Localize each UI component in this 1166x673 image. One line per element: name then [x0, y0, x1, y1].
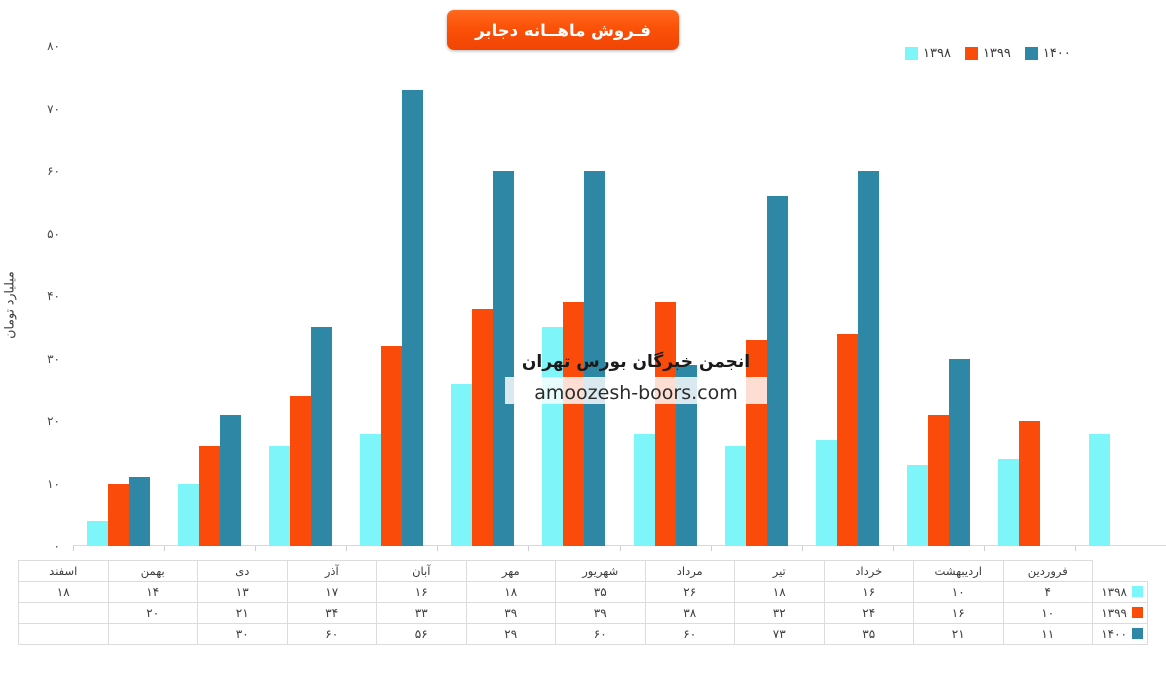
table-cell: ۱۳: [198, 582, 288, 603]
table-series-label: ۱۳۹۹: [1093, 603, 1148, 624]
table-month-header: آذر: [287, 561, 377, 582]
bar-group: [620, 46, 711, 546]
table-month-header: اردیبهشت: [914, 561, 1004, 582]
table-row: ۱۳۹۸۴۱۰۱۶۱۸۲۶۳۵۱۸۱۶۱۷۱۳۱۴۱۸: [19, 582, 1148, 603]
x-axis-tick: [984, 546, 985, 551]
table-month-header: مهر: [466, 561, 556, 582]
bar[interactable]: [402, 90, 423, 546]
bar[interactable]: [563, 302, 584, 546]
y-axis-tick-20: ۲۰: [47, 414, 60, 428]
bar[interactable]: [767, 196, 788, 546]
table-header-row: فروردیناردیبهشتخردادتیرمردادشهریورمهرآبا…: [19, 561, 1148, 582]
bar[interactable]: [949, 359, 970, 547]
bar[interactable]: [928, 415, 949, 546]
table-corner: [1093, 561, 1148, 582]
table-series-swatch-icon: [1132, 607, 1143, 618]
table-cell: ۱۶: [914, 603, 1004, 624]
bar-group: [255, 46, 346, 546]
table-month-header: دی: [198, 561, 288, 582]
bar-group: [893, 46, 984, 546]
table-cell: ۱۸: [466, 582, 556, 603]
table-cell: ۱۰: [914, 582, 1004, 603]
table-cell: ۶۰: [556, 624, 646, 645]
x-axis-tick: [346, 546, 347, 551]
table-series-name: ۱۳۹۸: [1101, 585, 1127, 599]
table-cell: ۲۴: [824, 603, 914, 624]
table-month-header: شهریور: [556, 561, 646, 582]
y-axis-tick-30: ۳۰: [47, 352, 60, 366]
data-table: فروردیناردیبهشتخردادتیرمردادشهریورمهرآبا…: [18, 560, 1148, 645]
table-series-label: ۱۴۰۰: [1093, 624, 1148, 645]
table-cell: [108, 624, 198, 645]
table-series-swatch-icon: [1132, 628, 1143, 639]
table-cell: ۱۷: [287, 582, 377, 603]
table-cell: ۲۹: [466, 624, 556, 645]
x-axis-tick: [255, 546, 256, 551]
y-axis-tick-70: ۷۰: [47, 102, 60, 116]
bar[interactable]: [108, 484, 129, 547]
y-axis-tick-10: ۱۰: [47, 477, 60, 491]
bar[interactable]: [542, 327, 563, 546]
table-row: ۱۳۹۹۱۰۱۶۲۴۳۲۳۸۳۹۳۹۳۳۳۴۲۱۲۰: [19, 603, 1148, 624]
bar-group: [346, 46, 437, 546]
table-cell: ۷۳: [735, 624, 825, 645]
table-body: ۱۳۹۸۴۱۰۱۶۱۸۲۶۳۵۱۸۱۶۱۷۱۳۱۴۱۸۱۳۹۹۱۰۱۶۲۴۳۲۳…: [19, 582, 1148, 645]
y-axis-tick-40: ۴۰: [47, 289, 60, 303]
x-axis-tick: [802, 546, 803, 551]
x-axis-tick: [164, 546, 165, 551]
bar[interactable]: [1089, 434, 1110, 547]
table-cell: ۲۶: [645, 582, 735, 603]
plot-area: [73, 46, 1166, 546]
table-cell: ۳۵: [824, 624, 914, 645]
y-axis-tick-0: ۰: [54, 539, 60, 553]
table-cell: [19, 603, 109, 624]
x-axis-tick: [528, 546, 529, 551]
table-cell: ۳۰: [198, 624, 288, 645]
table-series-name: ۱۳۹۹: [1101, 606, 1127, 620]
table-cell: ۳۲: [735, 603, 825, 624]
bar[interactable]: [998, 459, 1019, 547]
y-axis: میلیارد تومان ۸۰۷۰۶۰۵۰۴۰۳۰۲۰۱۰۰: [0, 0, 72, 560]
bar[interactable]: [676, 365, 697, 546]
table-cell: ۵۶: [377, 624, 467, 645]
bar[interactable]: [220, 415, 241, 546]
bar[interactable]: [816, 440, 837, 546]
bar[interactable]: [634, 434, 655, 547]
table-cell: ۱۱: [1003, 624, 1093, 645]
x-axis-tick: [1075, 546, 1076, 551]
bar[interactable]: [837, 334, 858, 547]
table-cell: ۳۳: [377, 603, 467, 624]
y-axis-title: میلیارد تومان: [2, 271, 17, 338]
bar[interactable]: [1019, 421, 1040, 546]
bar[interactable]: [493, 171, 514, 546]
table-cell: ۶۰: [287, 624, 377, 645]
table-cell: ۳۹: [466, 603, 556, 624]
table-cell: ۱۶: [824, 582, 914, 603]
table-cell: ۱۴: [108, 582, 198, 603]
bar-group: [1075, 46, 1166, 546]
table-cell: ۱۸: [19, 582, 109, 603]
table-cell: [19, 624, 109, 645]
bar[interactable]: [87, 521, 108, 546]
table-cell: ۳۹: [556, 603, 646, 624]
bar[interactable]: [655, 302, 676, 546]
table-cell: ۳۵: [556, 582, 646, 603]
bar[interactable]: [129, 477, 150, 546]
bar-group: [528, 46, 619, 546]
bar-group: [164, 46, 255, 546]
table-cell: ۳۸: [645, 603, 735, 624]
x-axis-tick: [620, 546, 621, 551]
table-cell: ۴: [1003, 582, 1093, 603]
y-axis-tick-80: ۸۰: [47, 39, 60, 53]
table-series-name: ۱۴۰۰: [1101, 627, 1127, 641]
table-series-label: ۱۳۹۸: [1093, 582, 1148, 603]
bar[interactable]: [858, 171, 879, 546]
x-axis-tick: [893, 546, 894, 551]
y-axis-tick-50: ۵۰: [47, 227, 60, 241]
bar[interactable]: [178, 484, 199, 547]
bar[interactable]: [746, 340, 767, 546]
table-month-header: اسفند: [19, 561, 109, 582]
chart-title: فـروش ماهــانه دجابر: [447, 10, 679, 50]
table-month-header: تیر: [735, 561, 825, 582]
bar[interactable]: [381, 346, 402, 546]
bar-group: [437, 46, 528, 546]
table-cell: ۶۰: [645, 624, 735, 645]
bar[interactable]: [451, 384, 472, 547]
table-row: ۱۴۰۰۱۱۲۱۳۵۷۳۶۰۶۰۲۹۵۶۶۰۳۰: [19, 624, 1148, 645]
table-cell: ۲۱: [914, 624, 1004, 645]
table-month-header: آبان: [377, 561, 467, 582]
bar-group: [711, 46, 802, 546]
bar[interactable]: [199, 446, 220, 546]
bar-group: [802, 46, 893, 546]
table-month-header: فروردین: [1003, 561, 1093, 582]
bar[interactable]: [725, 446, 746, 546]
table-cell: ۱۶: [377, 582, 467, 603]
bar-group: [73, 46, 164, 546]
table-month-header: بهمن: [108, 561, 198, 582]
bar-group: [984, 46, 1075, 546]
x-axis-tick: [437, 546, 438, 551]
table-cell: ۲۰: [108, 603, 198, 624]
bar[interactable]: [311, 327, 332, 546]
table-cell: ۳۴: [287, 603, 377, 624]
bar[interactable]: [290, 396, 311, 546]
bar[interactable]: [907, 465, 928, 546]
bar[interactable]: [269, 446, 290, 546]
bar[interactable]: [584, 171, 605, 546]
table-month-header: مرداد: [645, 561, 735, 582]
table-cell: ۱۸: [735, 582, 825, 603]
bar[interactable]: [360, 434, 381, 547]
chart-page: فـروش ماهــانه دجابر ۱۳۹۸ ۱۳۹۹ ۱۴۰۰ میلی…: [0, 0, 1166, 673]
y-axis-tick-60: ۶۰: [47, 164, 60, 178]
x-axis-tick: [73, 546, 74, 551]
x-axis-tick: [711, 546, 712, 551]
table-cell: ۲۱: [198, 603, 288, 624]
table-series-swatch-icon: [1132, 586, 1143, 597]
table-month-header: خرداد: [824, 561, 914, 582]
bar[interactable]: [472, 309, 493, 547]
table-cell: ۱۰: [1003, 603, 1093, 624]
